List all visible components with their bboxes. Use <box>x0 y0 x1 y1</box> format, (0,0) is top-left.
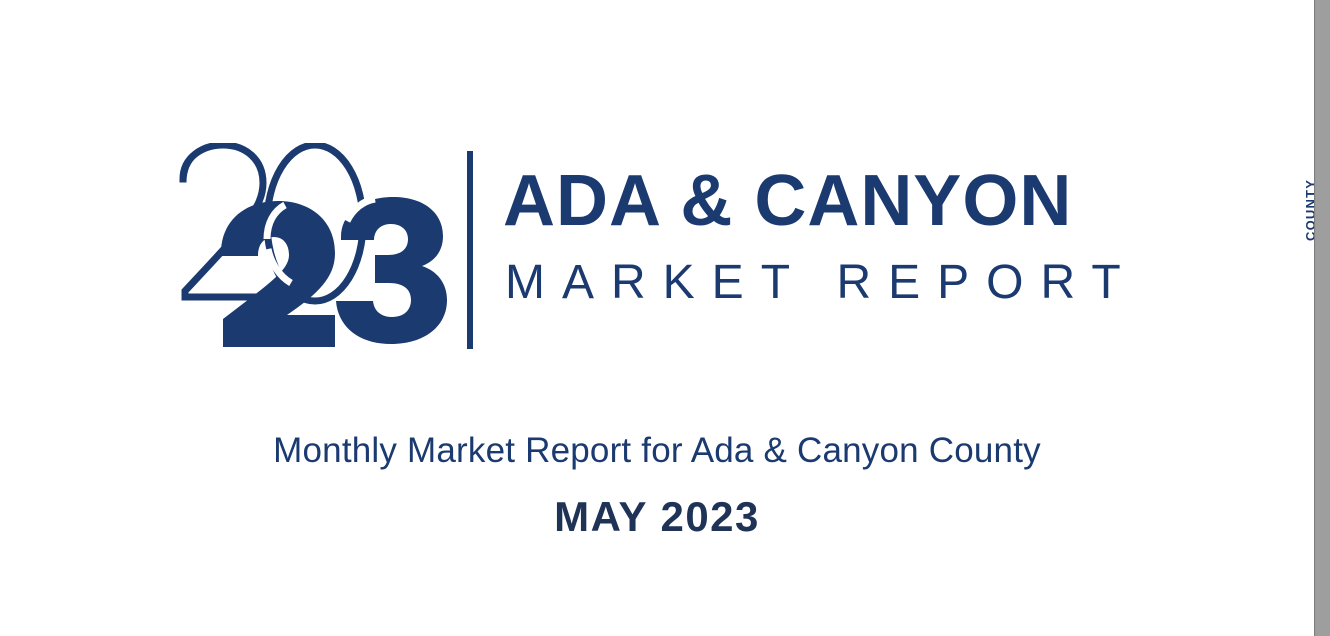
report-cover-page: ADA & CANYON COUNTY MARKET REPORT Monthl… <box>0 0 1314 636</box>
logo-divider-rule <box>467 151 473 349</box>
logo-year-mark-2023 <box>175 143 447 348</box>
report-subtitle: Monthly Market Report for Ada & Canyon C… <box>0 430 1314 472</box>
report-date: MAY 2023 <box>0 494 1314 540</box>
wordmark-county-superscript: COUNTY <box>1303 179 1314 241</box>
vertical-scrollbar-thumb[interactable] <box>1316 0 1330 636</box>
vertical-scrollbar-track[interactable] <box>1314 0 1330 636</box>
wordmark-primary-text: ADA & CANYON <box>503 165 1072 237</box>
logo-wordmark: ADA & CANYON COUNTY MARKET REPORT <box>503 143 1163 348</box>
report-title-block: Monthly Market Report for Ada & Canyon C… <box>0 430 1314 540</box>
wordmark-secondary-text: MARKET REPORT <box>505 259 1138 307</box>
brand-logo-lockup: ADA & CANYON COUNTY MARKET REPORT <box>175 143 1165 353</box>
